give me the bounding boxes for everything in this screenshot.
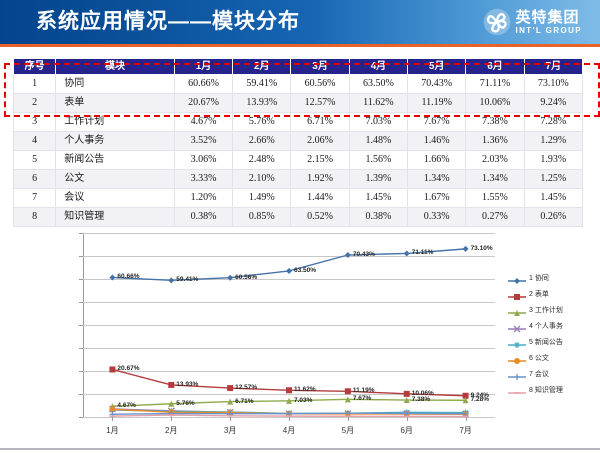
marker-diamond (286, 268, 292, 274)
table-row: 2表单20.67%13.93%12.57%11.62%11.19%10.06%9… (14, 94, 583, 113)
table-header-row: 序号 模块 1月 2月 3月 4月 5月 6月 7月 (14, 59, 583, 75)
marker-square (227, 385, 233, 391)
y-tick-mark (79, 417, 83, 418)
table-cell-value: 1.25% (524, 170, 582, 189)
x-axis-tick-label: 5月 (342, 425, 354, 436)
table-header-cell: 3月 (291, 59, 349, 75)
table-cell-value: 71.11% (466, 75, 524, 94)
module-distribution-table: 序号 模块 1月 2月 3月 4月 5月 6月 7月 1协同60.66%59.4… (13, 58, 583, 227)
legend-label: 8 知识管理 (529, 385, 563, 395)
table-cell-value: 60.56% (291, 75, 349, 94)
table-header-cell: 序号 (14, 59, 56, 75)
table-cell-value: 1.48% (349, 132, 407, 151)
table-cell-value: 1.49% (233, 189, 291, 208)
legend-label: 4 个人事务 (529, 321, 563, 331)
legend-item[interactable]: 1 协同 (508, 270, 596, 286)
table-cell-value: 9.24% (524, 94, 582, 113)
marker-circle (514, 358, 520, 364)
table-row: 7会议1.20%1.49%1.44%1.45%1.67%1.55%1.45% (14, 189, 583, 208)
table-cell-value: 1.66% (408, 151, 466, 170)
marker-dash (286, 415, 292, 417)
legend-label: 6 公文 (529, 353, 549, 363)
table-cell-value: 1.45% (524, 189, 582, 208)
x-tick-mark (289, 417, 290, 421)
table-cell-module: 新闻公告 (56, 151, 175, 170)
x-axis-tick-label: 2月 (165, 425, 177, 436)
table-cell-value: 12.57% (291, 94, 349, 113)
legend-label: 3 工作计划 (529, 305, 563, 315)
legend-label: 1 协同 (529, 273, 549, 283)
marker-diamond (514, 278, 520, 284)
legend-item[interactable]: 3 工作计划 (508, 302, 596, 318)
legend-item[interactable]: 2 表单 (508, 286, 596, 302)
table-cell-value: 11.19% (408, 94, 466, 113)
table-cell-value: 60.66% (174, 75, 232, 94)
legend-marker-asterisk-icon (508, 337, 526, 347)
table-cell-value: 1.46% (408, 132, 466, 151)
table-cell-value: 5.76% (233, 113, 291, 132)
table-cell-module: 会议 (56, 189, 175, 208)
table-cell-value: 3.06% (174, 151, 232, 170)
table-cell-module: 工作计划 (56, 113, 175, 132)
table-cell-value: 73.10% (524, 75, 582, 94)
legend-marker-diamond-icon (508, 273, 526, 283)
marker-square (109, 366, 115, 372)
table-cell-value: 13.93% (233, 94, 291, 113)
table-cell-value: 1.93% (524, 151, 582, 170)
footer-rule (0, 448, 600, 450)
data-point-label: 60.56% (235, 274, 257, 281)
table-cell-value: 7.03% (349, 113, 407, 132)
marker-diamond (227, 275, 233, 281)
table-cell-value: 59.41% (233, 75, 291, 94)
table-cell-value: 2.66% (233, 132, 291, 151)
data-point-label: 4.67% (117, 402, 135, 409)
pinwheel-logo-icon (483, 8, 511, 36)
table-cell-value: 2.15% (291, 151, 349, 170)
table-cell-value: 7.67% (408, 113, 466, 132)
table-cell-value: 1.44% (291, 189, 349, 208)
marker-square (286, 387, 292, 393)
marker-plus (514, 374, 520, 380)
marker-dash (463, 416, 469, 418)
table-cell-value: 6.71% (291, 113, 349, 132)
marker-dash (345, 415, 351, 417)
legend-label: 2 表单 (529, 289, 549, 299)
x-axis-tick-label: 4月 (283, 425, 295, 436)
table-cell-index: 5 (14, 151, 56, 170)
page-title: 系统应用情况——模块分布 (36, 8, 300, 36)
table-cell-index: 1 (14, 75, 56, 94)
marker-dash (404, 416, 410, 418)
marker-square (345, 388, 351, 394)
table-header-cell: 1月 (174, 59, 232, 75)
page-header-bar: 系统应用情况——模块分布 英特集团 INT'L GROUP (0, 0, 600, 44)
data-point-label: 7.38% (412, 396, 430, 403)
data-point-label: 7.28% (471, 396, 489, 403)
table-cell-index: 7 (14, 189, 56, 208)
x-axis-tick-label: 7月 (459, 425, 471, 436)
marker-diamond (109, 274, 115, 280)
marker-diamond (404, 250, 410, 256)
x-tick-mark (230, 417, 231, 421)
chart-plot-area: 0.00%10.00%20.00%30.00%40.00%50.00%60.00… (83, 233, 495, 417)
table-cell-value: 4.67% (174, 113, 232, 132)
table-cell-value: 1.34% (466, 170, 524, 189)
legend-item[interactable]: 4 个人事务 (508, 318, 596, 334)
table-cell-value: 1.29% (524, 132, 582, 151)
table-cell-value: 3.33% (174, 170, 232, 189)
table-cell-value: 10.06% (466, 94, 524, 113)
legend-item[interactable]: 6 公文 (508, 350, 596, 366)
legend-marker-dash-icon (508, 385, 526, 395)
table-cell-value: 1.56% (349, 151, 407, 170)
legend-marker-x-icon (508, 321, 526, 331)
logo-english-name: INT'L GROUP (516, 27, 583, 35)
data-point-label: 12.57% (235, 384, 257, 391)
chart-legend: 1 协同2 表单3 工作计划4 个人事务5 新闻公告6 公文7 会议8 知识管理 (508, 270, 596, 398)
table-cell-module: 协同 (56, 75, 175, 94)
table-cell-index: 3 (14, 113, 56, 132)
data-point-label: 7.67% (353, 395, 371, 402)
table-cell-value: 3.52% (174, 132, 232, 151)
x-tick-mark (348, 417, 349, 421)
legend-item[interactable]: 7 会议 (508, 366, 596, 382)
table-cell-value: 1.34% (408, 170, 466, 189)
table-header-cell: 2月 (233, 59, 291, 75)
table-header-cell: 6月 (466, 59, 524, 75)
marker-square (404, 391, 410, 397)
data-point-label: 70.43% (353, 251, 375, 258)
marker-square (168, 382, 174, 388)
table-cell-index: 2 (14, 94, 56, 113)
data-point-label: 13.93% (176, 381, 198, 388)
x-axis-tick-label: 3月 (224, 425, 236, 436)
legend-marker-circle-icon (508, 353, 526, 363)
data-point-label: 60.66% (117, 273, 139, 280)
marker-diamond (345, 252, 351, 258)
marker-dash (227, 415, 233, 417)
x-axis-tick-label: 1月 (106, 425, 118, 436)
table-cell-index: 6 (14, 170, 56, 189)
marker-dash (168, 414, 174, 416)
marker-asterisk (514, 342, 520, 348)
legend-label: 5 新闻公告 (529, 337, 563, 347)
table-cell-module: 公文 (56, 170, 175, 189)
table-body: 1协同60.66%59.41%60.56%63.50%70.43%71.11%7… (14, 75, 583, 227)
table-row: 1协同60.66%59.41%60.56%63.50%70.43%71.11%7… (14, 75, 583, 94)
marker-diamond (168, 277, 174, 283)
table-header-cell: 4月 (349, 59, 407, 75)
data-point-label: 5.76% (176, 400, 194, 407)
table-cell-value: 1.92% (291, 170, 349, 189)
module-distribution-table-wrapper: 序号 模块 1月 2月 3月 4月 5月 6月 7月 1协同60.66%59.4… (13, 58, 583, 227)
x-tick-mark (407, 417, 408, 421)
table-row: 3工作计划4.67%5.76%6.71%7.03%7.67%7.38%7.28% (14, 113, 583, 132)
logo-chinese-name: 英特集团 (516, 10, 583, 25)
table-cell-value: 70.43% (408, 75, 466, 94)
marker-square (514, 294, 520, 300)
table-cell-value: 1.20% (174, 189, 232, 208)
legend-marker-triangle-icon (508, 305, 526, 315)
table-header-cell: 模块 (56, 59, 175, 75)
table-cell-value: 1.36% (466, 132, 524, 151)
table-cell-module: 个人事务 (56, 132, 175, 151)
data-point-label: 63.50% (294, 267, 316, 274)
x-tick-mark (112, 417, 113, 421)
header-accent-rule (0, 44, 600, 47)
module-trend-chart: 0.00%10.00%20.00%30.00%40.00%50.00%60.00… (0, 222, 600, 432)
table-cell-value: 63.50% (349, 75, 407, 94)
data-point-label: 11.62% (294, 386, 316, 393)
table-cell-value: 2.03% (466, 151, 524, 170)
table-cell-value: 11.62% (349, 94, 407, 113)
x-axis-tick-label: 6月 (400, 425, 412, 436)
table-row: 5新闻公告3.06%2.48%2.15%1.56%1.66%2.03%1.93% (14, 151, 583, 170)
table-cell-value: 1.55% (466, 189, 524, 208)
data-point-label: 59.41% (176, 276, 198, 283)
x-tick-mark (171, 417, 172, 421)
marker-dash (109, 415, 115, 417)
table-cell-value: 1.67% (408, 189, 466, 208)
table-cell-value: 20.67% (174, 94, 232, 113)
table-header-cell: 7月 (524, 59, 582, 75)
data-point-label: 7.03% (294, 397, 312, 404)
table-cell-value: 2.48% (233, 151, 291, 170)
table-cell-module: 表单 (56, 94, 175, 113)
table-cell-index: 4 (14, 132, 56, 151)
data-point-label: 71.11% (412, 249, 434, 256)
table-cell-value: 2.10% (233, 170, 291, 189)
marker-dash (514, 392, 520, 394)
table-cell-value: 1.39% (349, 170, 407, 189)
table-row: 6公文3.33%2.10%1.92%1.39%1.34%1.34%1.25% (14, 170, 583, 189)
legend-item[interactable]: 8 知识管理 (508, 382, 596, 398)
company-logo: 英特集团 INT'L GROUP (483, 6, 583, 38)
data-point-label: 11.19% (353, 387, 375, 394)
legend-label: 7 会议 (529, 369, 549, 379)
marker-diamond (463, 246, 469, 252)
logo-text-block: 英特集团 INT'L GROUP (516, 10, 583, 35)
table-cell-value: 7.28% (524, 113, 582, 132)
table-row: 4个人事务3.52%2.66%2.06%1.48%1.46%1.36%1.29% (14, 132, 583, 151)
table-cell-value: 7.38% (466, 113, 524, 132)
data-point-label: 73.10% (471, 245, 493, 252)
data-point-label: 20.67% (117, 365, 139, 372)
legend-marker-square-icon (508, 289, 526, 299)
table-header-cell: 5月 (408, 59, 466, 75)
legend-item[interactable]: 5 新闻公告 (508, 334, 596, 350)
data-point-label: 6.71% (235, 398, 253, 405)
table-cell-value: 2.06% (291, 132, 349, 151)
legend-marker-plus-icon (508, 369, 526, 379)
table-cell-value: 1.45% (349, 189, 407, 208)
x-tick-mark (466, 417, 467, 421)
